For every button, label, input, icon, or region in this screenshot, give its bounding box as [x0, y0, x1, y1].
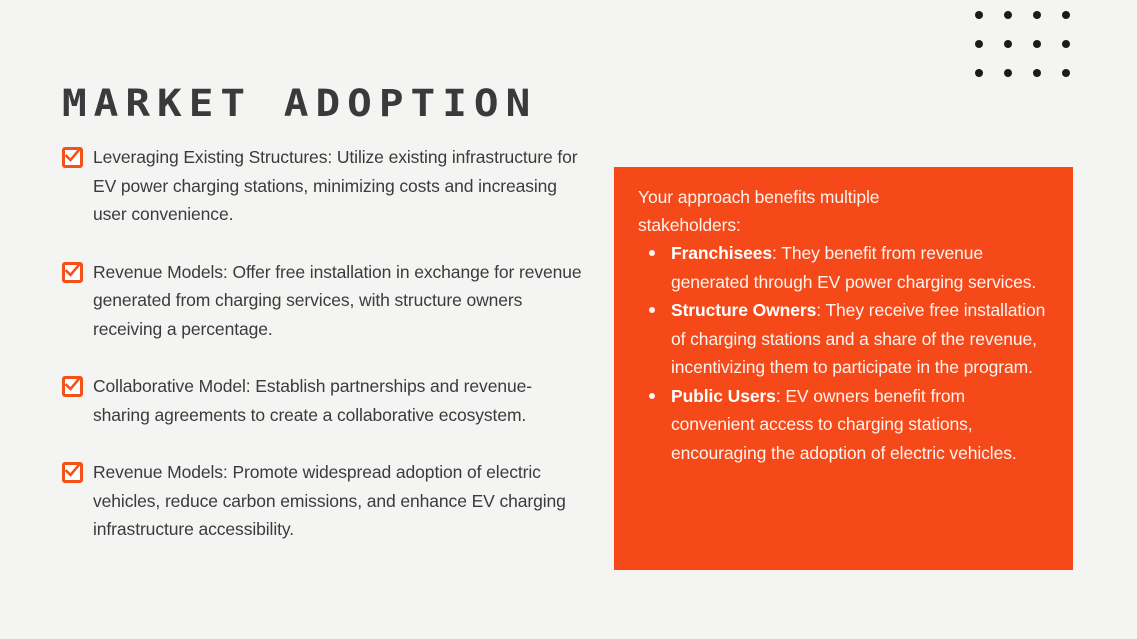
list-item-text: Revenue Models: Offer free installation … — [93, 258, 582, 344]
grid-dot — [1004, 11, 1012, 19]
grid-dot — [1062, 40, 1070, 48]
grid-dot — [1062, 69, 1070, 77]
benefits-list-item: Public Users: EV owners benefit from con… — [638, 382, 1051, 468]
benefits-panel-intro: Your approach benefits multiple stakehol… — [638, 183, 948, 239]
benefits-list-item: Franchisees: They benefit from revenue g… — [638, 239, 1051, 296]
list-item-text: Leveraging Existing Structures: Utilize … — [93, 143, 582, 229]
checkbox-checked-icon — [62, 462, 83, 483]
list-item: Revenue Models: Promote widespread adopt… — [62, 458, 582, 544]
page-title: Market Adoption — [62, 81, 537, 125]
grid-dot — [975, 40, 983, 48]
grid-dot — [1033, 40, 1041, 48]
bullet-dot-icon — [649, 250, 655, 256]
bullet-dot-icon — [649, 307, 655, 313]
checkbox-checked-icon — [62, 147, 83, 168]
benefits-list-item-label: Franchisees — [671, 243, 772, 263]
dot-grid-decoration — [975, 11, 1091, 98]
grid-dot — [1004, 69, 1012, 77]
checklist: Leveraging Existing Structures: Utilize … — [62, 143, 582, 544]
list-item: Leveraging Existing Structures: Utilize … — [62, 143, 582, 229]
checkbox-checked-icon — [62, 262, 83, 283]
list-item-text: Collaborative Model: Establish partnersh… — [93, 372, 582, 429]
grid-dot — [1004, 40, 1012, 48]
benefits-list-item-label: Public Users — [671, 386, 776, 406]
list-item: Revenue Models: Offer free installation … — [62, 258, 582, 344]
benefits-list-item-label: Structure Owners — [671, 300, 816, 320]
grid-dot — [975, 69, 983, 77]
grid-dot — [1033, 11, 1041, 19]
grid-dot — [1033, 69, 1041, 77]
benefits-list: Franchisees: They benefit from revenue g… — [638, 239, 1051, 467]
checkbox-checked-icon — [62, 376, 83, 397]
benefits-panel: Your approach benefits multiple stakehol… — [614, 167, 1073, 570]
grid-dot — [1062, 11, 1070, 19]
benefits-list-item: Structure Owners: They receive free inst… — [638, 296, 1051, 382]
bullet-dot-icon — [649, 393, 655, 399]
list-item-text: Revenue Models: Promote widespread adopt… — [93, 458, 582, 544]
list-item: Collaborative Model: Establish partnersh… — [62, 372, 582, 429]
grid-dot — [975, 11, 983, 19]
